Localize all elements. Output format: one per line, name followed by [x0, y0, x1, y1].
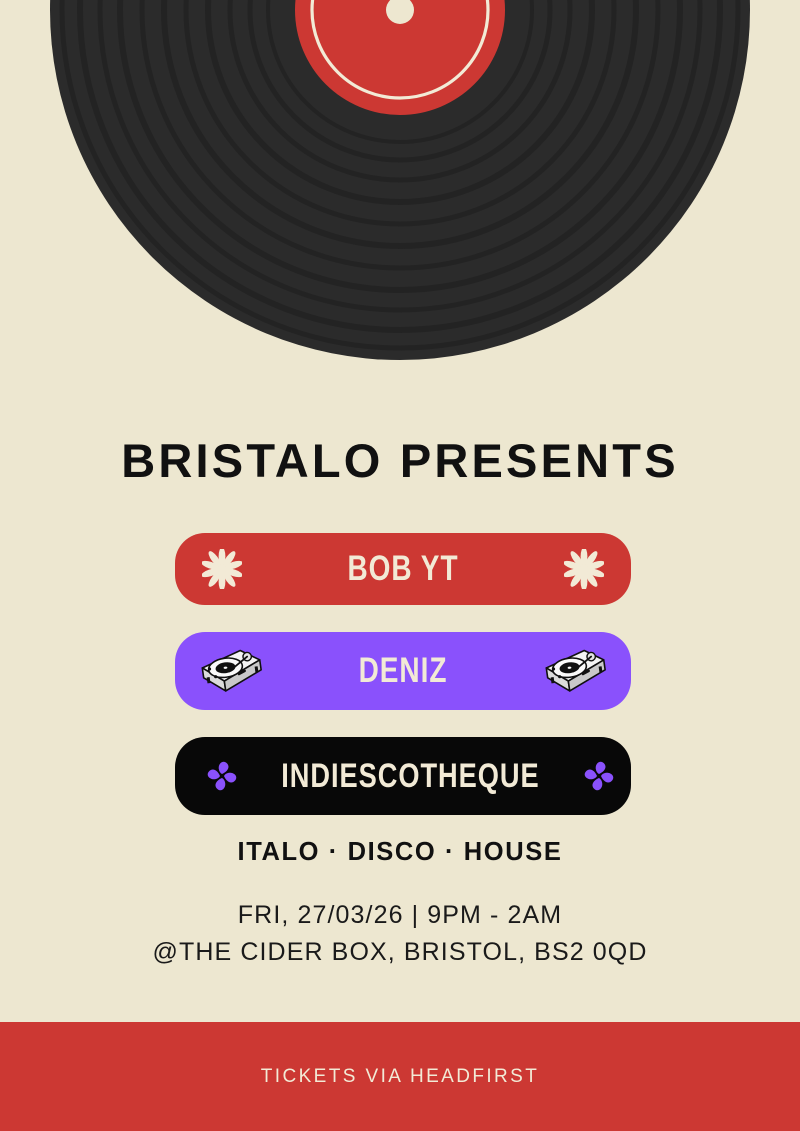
lineup-item-label: INDIESCOTHEQUE — [281, 757, 539, 796]
ticket-footer-band[interactable]: TICKETS VIA HEADFIRST — [0, 1022, 800, 1131]
asterisk-flower-icon — [557, 542, 611, 596]
page-title: BRISTALO PRESENTS — [0, 430, 800, 492]
vinyl-record-artwork — [0, 0, 800, 400]
event-poster: BRISTALO PRESENTS — [0, 0, 800, 1131]
ticket-info-text: TICKETS VIA HEADFIRST — [261, 1066, 539, 1088]
lineup-item-bob-yt[interactable]: BOB YT — [175, 533, 631, 605]
event-date-time: FRI, 27/03/26 | 9PM - 2AM — [0, 897, 800, 933]
genre-list: ITALO · DISCO · HOUSE — [0, 838, 800, 867]
vinyl-record-svg — [0, 0, 800, 400]
lineup-list: BOB YT — [175, 533, 631, 842]
clover-flower-icon — [572, 749, 626, 803]
clover-flower-icon — [195, 749, 249, 803]
event-details: FRI, 27/03/26 | 9PM - 2AM @THE CIDER BOX… — [0, 897, 800, 971]
lineup-item-deniz[interactable]: DENIZ — [175, 632, 631, 710]
asterisk-flower-icon — [195, 542, 249, 596]
lineup-item-label: BOB YT — [280, 549, 526, 589]
lineup-item-indiescotheque[interactable]: INDIESCOTHEQUE — [175, 737, 631, 815]
turntable-icon — [539, 642, 611, 700]
turntable-icon — [195, 642, 267, 700]
lineup-item-label: DENIZ — [294, 651, 512, 691]
event-venue: @THE CIDER BOX, BRISTOL, BS2 0QD — [0, 934, 800, 970]
